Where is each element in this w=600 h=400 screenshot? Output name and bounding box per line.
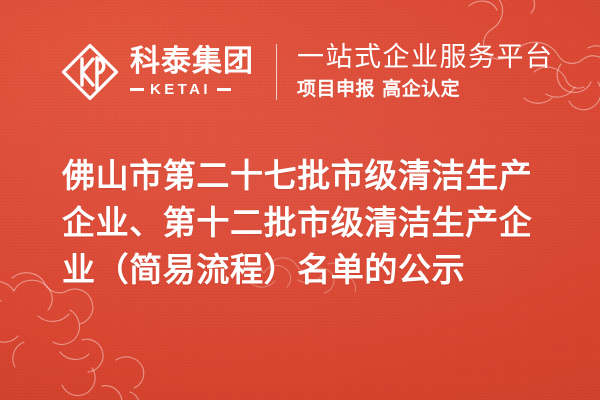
brand-name-en-row: KETAI <box>130 82 254 97</box>
ketai-logo-icon <box>60 42 120 102</box>
brand-wordmark: 科泰集团 KETAI <box>130 47 254 97</box>
wordmark-rule-left <box>130 88 144 91</box>
wordmark-rule-right <box>217 88 231 91</box>
slogan-block: 一站式企业服务平台 项目申报 高企认定 <box>297 44 554 99</box>
slogan-primary: 一站式企业服务平台 <box>297 44 554 72</box>
brand-name-cn: 科泰集团 <box>130 47 254 77</box>
header-divider <box>276 44 277 100</box>
brand-name-en: KETAI <box>150 82 211 97</box>
announcement-banner: 科泰集团 KETAI 一站式企业服务平台 项目申报 高企认定 佛山市第二十七批市… <box>0 0 600 400</box>
banner-header: 科泰集团 KETAI 一站式企业服务平台 项目申报 高企认定 <box>60 40 554 104</box>
page-title: 佛山市第二十七批市级清洁生产企业、第十二批市级清洁生产企业（简易流程）名单的公示 <box>62 152 562 293</box>
slogan-secondary: 项目申报 高企认定 <box>297 80 554 100</box>
